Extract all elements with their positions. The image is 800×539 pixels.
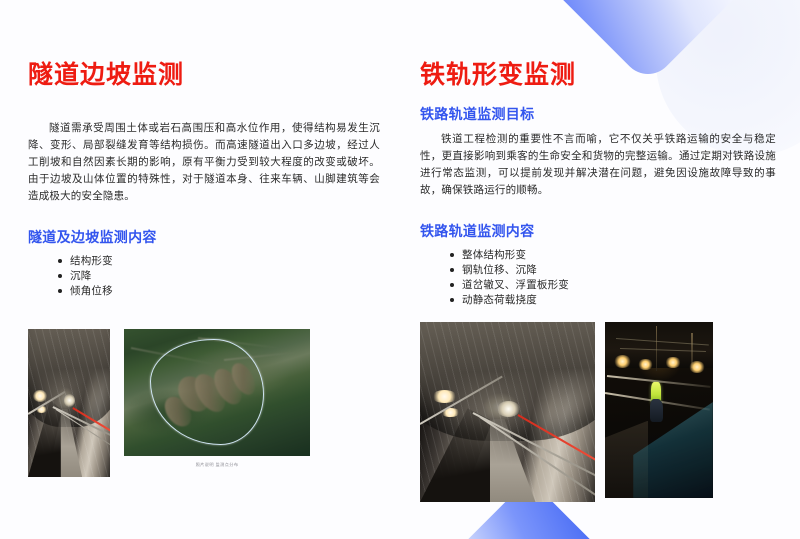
street-lamp-glow xyxy=(665,357,680,368)
left-bullet-list: 结构形变 沉降 倾角位移 xyxy=(28,254,380,299)
landslide-boundary-outline xyxy=(150,339,264,445)
railway-tunnel-photo xyxy=(420,322,595,502)
right-column: 铁轨形变监测 铁路轨道监测目标 铁道工程检测的重要性不言而喻，它不仅关乎铁路运输… xyxy=(400,60,800,539)
spacer xyxy=(28,90,380,120)
right-section-heading: 铁路轨道监测内容 xyxy=(420,221,776,241)
list-item: 整体结构形变 xyxy=(450,248,776,263)
spacer xyxy=(28,299,380,329)
left-column: 隧道边坡监测 隧道需承受周围土体或岩石高围压和高水位作用，使得结构易发生沉降、变… xyxy=(0,60,400,539)
tunnel-wall-light xyxy=(432,390,457,403)
right-main-title: 铁轨形变监测 xyxy=(420,60,776,90)
right-photo-row xyxy=(420,322,776,502)
spacer xyxy=(420,124,776,131)
spacer xyxy=(420,308,776,322)
right-goal-heading: 铁路轨道监测目标 xyxy=(420,104,776,124)
tunnel-wall-light xyxy=(33,390,47,402)
tunnel-far-light xyxy=(64,394,75,407)
list-item: 倾角位移 xyxy=(58,284,380,299)
mountain-slope-photo-block: 照片说明 监测点分布 xyxy=(124,329,310,468)
list-item: 动静态荷载挠度 xyxy=(450,293,776,308)
street-lamp-glow xyxy=(638,359,652,370)
tunnel-interior-photo xyxy=(28,329,110,477)
list-item: 结构形变 xyxy=(58,254,380,269)
spacer xyxy=(28,247,380,254)
street-lamp-glow xyxy=(689,361,705,373)
list-item: 道岔辙叉、浮置板形变 xyxy=(450,278,776,293)
night-railway-maintenance-photo xyxy=(605,322,713,498)
worker-figure xyxy=(650,399,663,422)
spacer xyxy=(420,241,776,248)
mountain-photo-caption: 照片说明 监测点分布 xyxy=(124,461,310,468)
spacer xyxy=(420,199,776,221)
content-columns: 隧道边坡监测 隧道需承受周围土体或岩石高围压和高水位作用，使得结构易发生沉降、变… xyxy=(0,0,800,539)
street-lamp-glow xyxy=(614,355,631,367)
left-section-heading: 隧道及边坡监测内容 xyxy=(28,227,380,247)
left-photo-row: 照片说明 监测点分布 xyxy=(28,329,380,477)
spacer xyxy=(28,205,380,227)
mountain-slope-aerial-photo xyxy=(124,329,310,456)
poster-page: 隧道边坡监测 隧道需承受周围土体或岩石高围压和高水位作用，使得结构易发生沉降、变… xyxy=(0,0,800,539)
right-goal-paragraph: 铁道工程检测的重要性不言而喻，它不仅关乎铁路运输的安全与稳定性，更直接影响到乘客… xyxy=(420,131,776,199)
list-item: 沉降 xyxy=(58,269,380,284)
left-intro-paragraph: 隧道需承受周围土体或岩石高围压和高水位作用，使得结构易发生沉降、变形、局部裂缝发… xyxy=(28,120,380,205)
left-main-title: 隧道边坡监测 xyxy=(28,60,380,90)
list-item: 钢轨位移、沉降 xyxy=(450,263,776,278)
right-bullet-list: 整体结构形变 钢轨位移、沉降 道岔辙叉、浮置板形变 动静态荷载挠度 xyxy=(420,248,776,308)
spacer xyxy=(420,90,776,104)
